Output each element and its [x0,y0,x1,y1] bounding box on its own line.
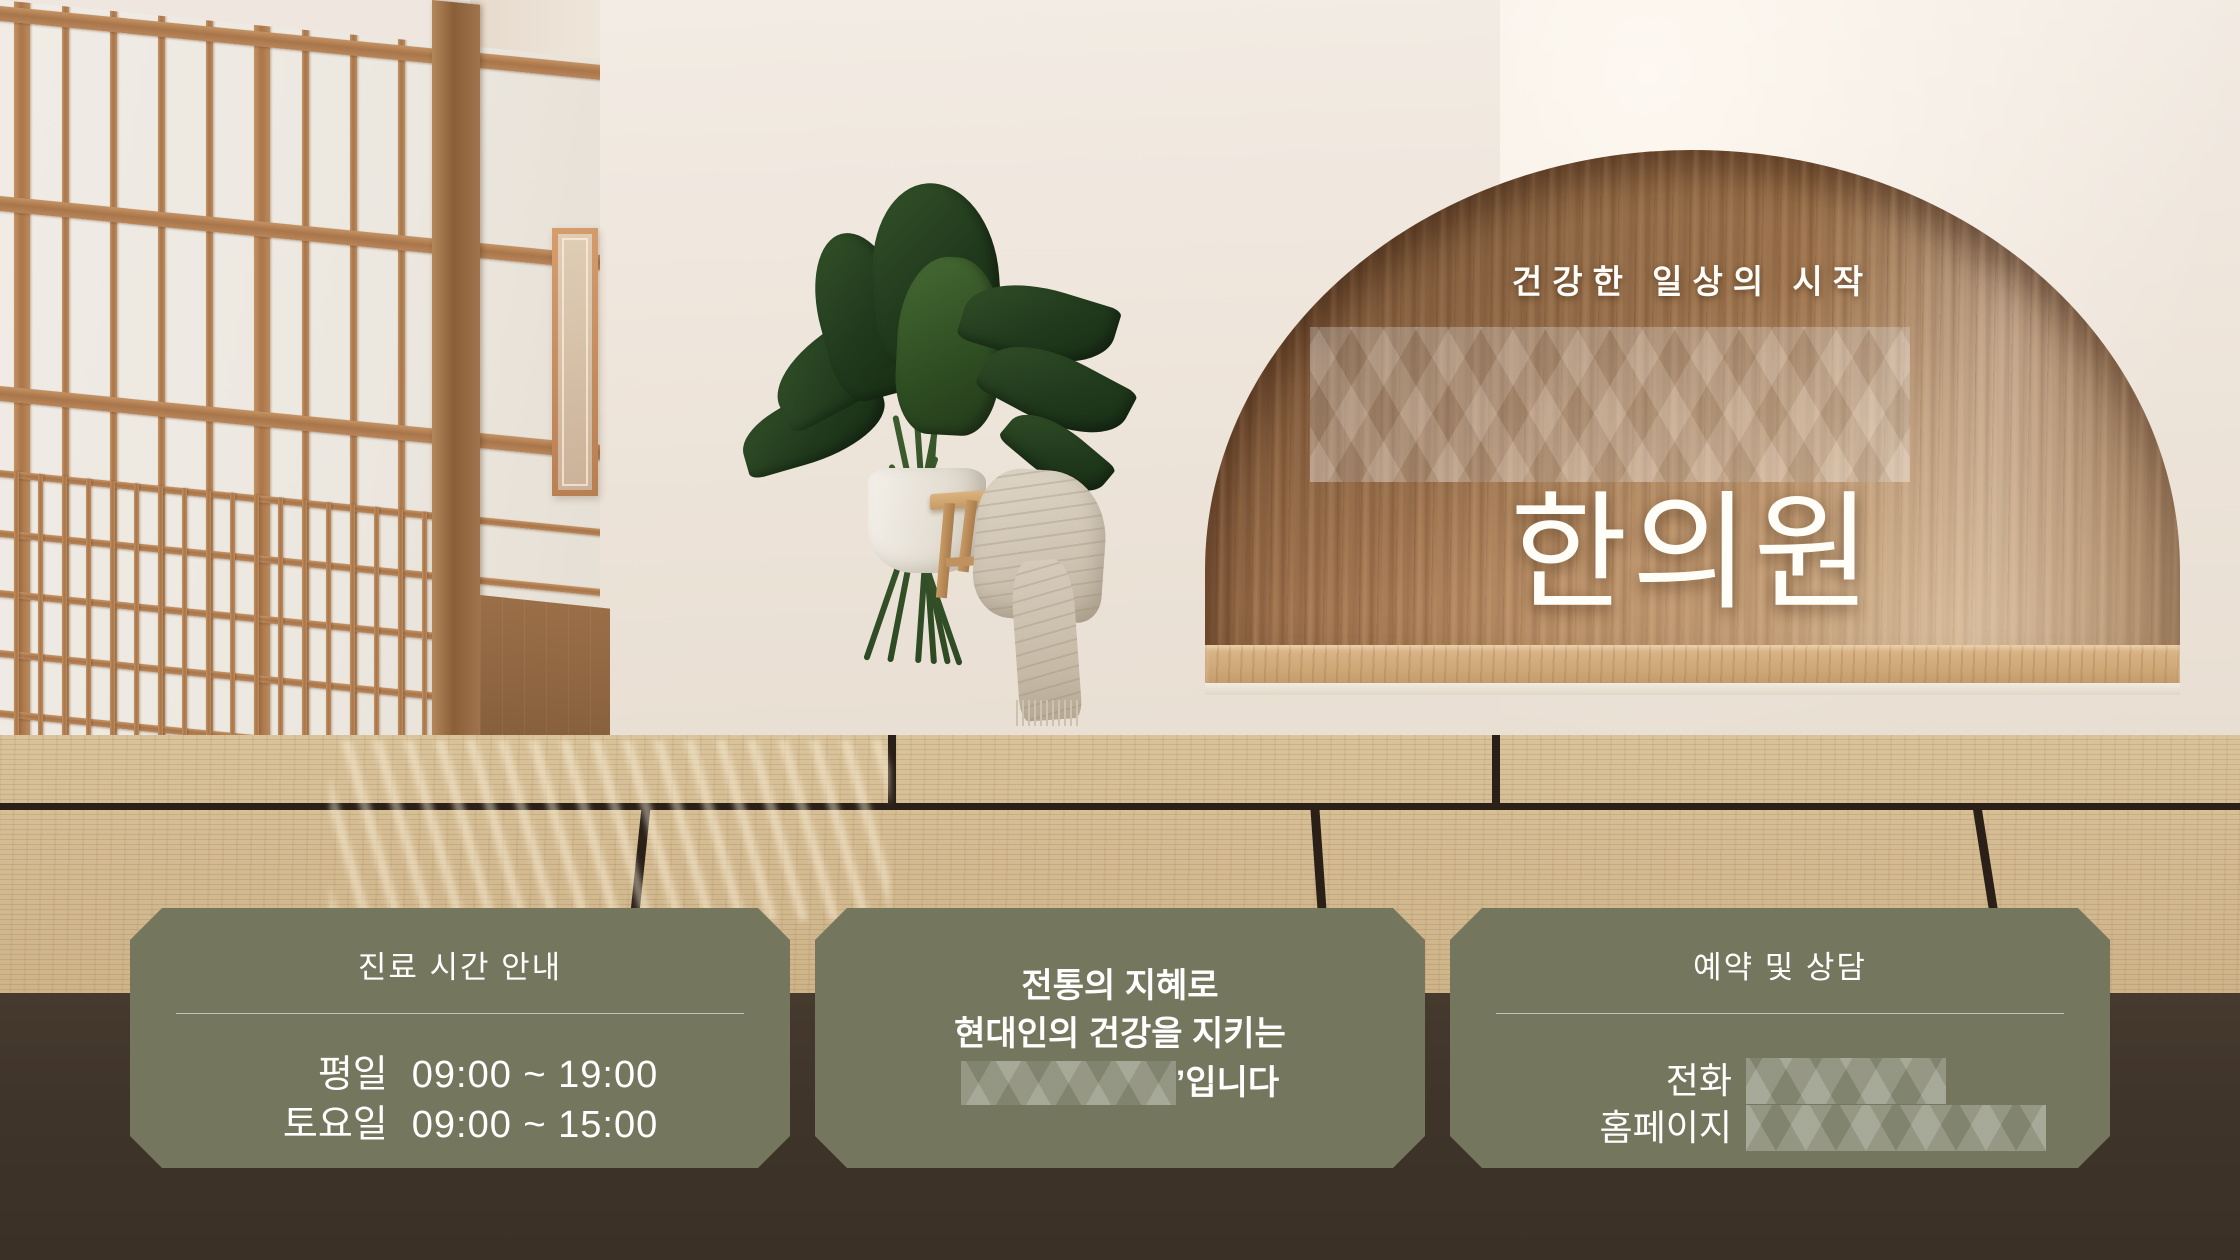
contact-rows: 전화 홈페이지 [1450,1058,2110,1152]
table-row: 토요일 09:00 ~ 15:00 [130,1100,790,1150]
slogan-text: 전통의 지혜로 현대인의 건강을 지키는 ’입니다 [815,962,1425,1118]
card-business-hours[interactable]: 진료 시간 안내 평일 09:00 ~ 19:00 토요일 09:00 ~ 15… [130,908,790,1168]
card-title: 예약 및 상담 [1450,942,2110,987]
hero-tagline: 건강한 일상의 시작 [1205,255,2180,303]
slogan-line-3: ’입니다 [961,1059,1279,1107]
table-row: 홈페이지 [1450,1105,2110,1152]
card-divider [1496,1013,2064,1014]
alcove-front-lip [1205,683,2180,695]
frame-mat [562,238,588,486]
window-light-pattern [330,740,890,920]
corner-post [432,0,480,825]
hours-value-saturday: 09:00 ~ 15:00 [412,1100,659,1150]
card-slogan[interactable]: 전통의 지혜로 현대인의 건강을 지키는 ’입니다 [815,908,1425,1168]
tatami-seam [1492,735,1500,805]
shoji-rail [0,192,600,276]
shoji-rail [0,382,600,466]
redacted-homepage-url [1746,1105,2046,1151]
table-row: 평일 09:00 ~ 19:00 [130,1050,790,1100]
card-title: 진료 시간 안내 [130,942,790,987]
wall-picture-frame [552,228,598,496]
hours-label-weekday: 평일 [262,1050,412,1100]
table-row: 전화 [1450,1058,2110,1105]
card-divider [176,1013,744,1014]
hero-brand-name: 한의원 [1205,490,2180,618]
slogan-line-1: 전통의 지혜로 [815,962,1425,1010]
hours-label-saturday: 토요일 [262,1100,412,1150]
poster-canvas: 건강한 일상의 시작 한의원 진료 시간 안내 평일 09:00 ~ 19:00… [0,0,2240,1260]
redacted-phone-number [1746,1058,1946,1104]
hours-rows: 평일 09:00 ~ 19:00 토요일 09:00 ~ 15:00 [130,1050,790,1150]
contact-label-homepage: 홈페이지 [1598,1105,1746,1152]
card-contact[interactable]: 예약 및 상담 전화 홈페이지 [1450,908,2110,1168]
info-card-row: 진료 시간 안내 평일 09:00 ~ 19:00 토요일 09:00 ~ 15… [0,908,2240,1168]
slogan-line-2: 현대인의 건강을 지키는 [815,1010,1425,1058]
contact-label-phone: 전화 [1598,1058,1746,1105]
redacted-clinic-name [961,1061,1176,1105]
hours-value-weekday: 09:00 ~ 19:00 [412,1050,659,1100]
blanket-fringe [1016,700,1078,726]
alcove-floor-ledge [1205,645,2180,687]
slogan-line-3-suffix: ’입니다 [1176,1059,1279,1107]
redacted-logo-block [1310,327,1910,482]
